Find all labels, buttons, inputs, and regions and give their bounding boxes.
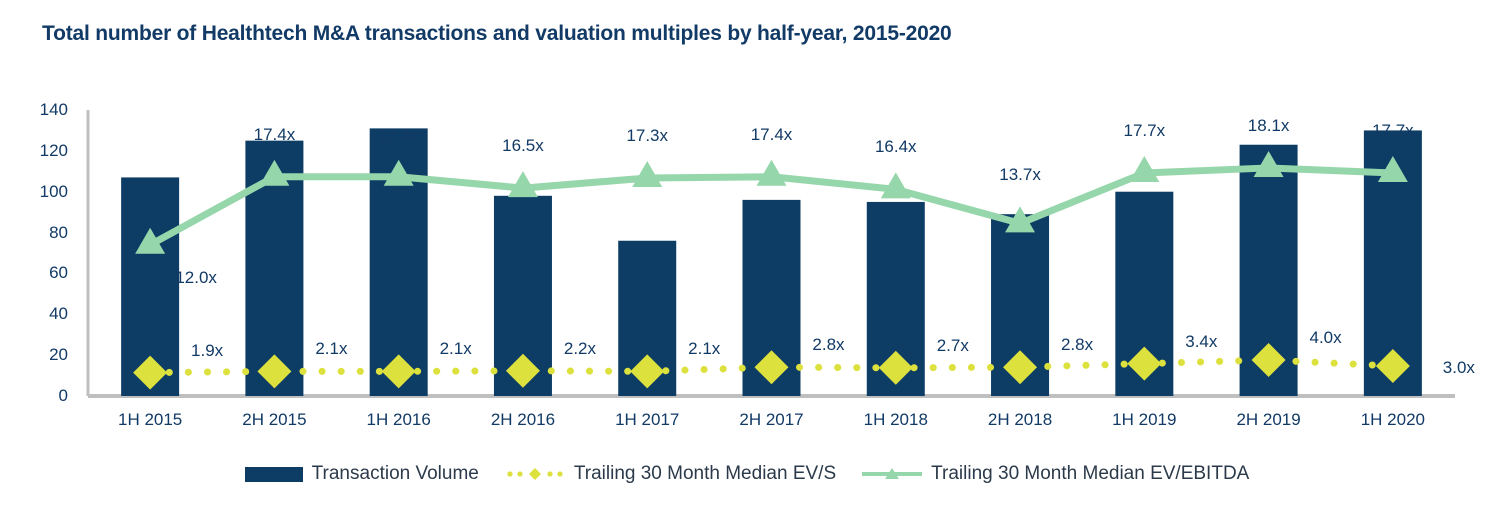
ev-sales-data-label: 2.8x bbox=[1061, 335, 1093, 355]
y-axis-tick-label: 140 bbox=[20, 100, 68, 120]
ev-sales-data-label: 2.1x bbox=[440, 339, 472, 359]
ev-ebitda-data-label: 17.4x bbox=[751, 125, 793, 145]
legend-label: Trailing 30 Month Median EV/EBITDA bbox=[931, 463, 1249, 485]
chart-legend: Transaction Volume Trailing 30 Month Med… bbox=[0, 463, 1494, 485]
legend-item-ev-sales[interactable]: Trailing 30 Month Median EV/S bbox=[505, 463, 836, 485]
ev-sales-data-label: 2.2x bbox=[564, 339, 596, 359]
ev-ebitda-data-label: 17.7x bbox=[1124, 121, 1166, 141]
ev-sales-data-label: 2.7x bbox=[937, 336, 969, 356]
ev-sales-data-label: 2.1x bbox=[688, 339, 720, 359]
ev-ebitda-marker bbox=[757, 160, 787, 186]
ev-sales-data-label: 3.4x bbox=[1185, 332, 1217, 352]
ev-ebitda-marker bbox=[1129, 156, 1159, 182]
ev-ebitda-marker bbox=[632, 161, 662, 187]
x-axis-tick-label: 2H 2019 bbox=[1236, 410, 1300, 430]
ev-sales-data-label: 2.8x bbox=[812, 335, 844, 355]
ev-ebitda-data-label: 16.5x bbox=[502, 136, 544, 156]
x-axis-tick-label: 2H 2015 bbox=[242, 410, 306, 430]
ev-sales-data-label: 2.1x bbox=[315, 339, 347, 359]
x-axis-tick-label: 1H 2016 bbox=[367, 410, 431, 430]
chart-svg bbox=[0, 0, 1494, 511]
ev-ebitda-data-label: 13.7x bbox=[999, 165, 1041, 185]
y-axis-tick-label: 80 bbox=[20, 223, 68, 243]
x-axis-tick-label: 1H 2015 bbox=[118, 410, 182, 430]
y-axis-tick-label: 20 bbox=[20, 345, 68, 365]
legend-label: Trailing 30 Month Median EV/S bbox=[574, 463, 836, 485]
legend-item-ev-ebitda[interactable]: Trailing 30 Month Median EV/EBITDA bbox=[862, 463, 1249, 485]
y-axis-tick-label: 120 bbox=[20, 141, 68, 161]
ev-ebitda-data-label: 18.1x bbox=[1248, 116, 1290, 136]
x-axis-tick-label: 1H 2020 bbox=[1361, 410, 1425, 430]
ev-sales-data-label: 1.9x bbox=[191, 341, 223, 361]
ev-sales-data-label: 4.0x bbox=[1310, 328, 1342, 348]
legend-label: Transaction Volume bbox=[312, 463, 479, 485]
ev-ebitda-data-label: 16.4x bbox=[875, 137, 917, 157]
y-axis-tick-label: 0 bbox=[20, 386, 68, 406]
y-axis-tick-label: 40 bbox=[20, 304, 68, 324]
bar-swatch-icon bbox=[245, 467, 303, 482]
x-axis-tick-label: 2H 2018 bbox=[988, 410, 1052, 430]
legend-item-transaction-volume[interactable]: Transaction Volume bbox=[245, 463, 479, 485]
x-axis-tick-label: 1H 2018 bbox=[864, 410, 928, 430]
x-axis-tick-label: 2H 2016 bbox=[491, 410, 555, 430]
ev-ebitda-data-label: 12.0x bbox=[175, 268, 217, 288]
ev-ebitda-data-label: 17.7x bbox=[1372, 121, 1414, 141]
y-axis-tick-label: 100 bbox=[20, 182, 68, 202]
x-axis-tick-label: 1H 2017 bbox=[615, 410, 679, 430]
chart-plot-area: 0204060801001201401H 20152H 20151H 20162… bbox=[0, 0, 1494, 511]
x-axis-tick-label: 1H 2019 bbox=[1112, 410, 1176, 430]
line-triangle-swatch-icon bbox=[862, 466, 922, 482]
ev-ebitda-data-label: 17.4x bbox=[378, 125, 420, 145]
y-axis-tick-label: 60 bbox=[20, 263, 68, 283]
dotted-diamond-swatch-icon bbox=[505, 466, 565, 482]
ev-ebitda-data-label: 17.4x bbox=[254, 125, 296, 145]
ev-ebitda-data-label: 17.3x bbox=[626, 126, 668, 146]
ev-sales-data-label: 3.0x bbox=[1443, 358, 1475, 378]
x-axis-tick-label: 2H 2017 bbox=[739, 410, 803, 430]
